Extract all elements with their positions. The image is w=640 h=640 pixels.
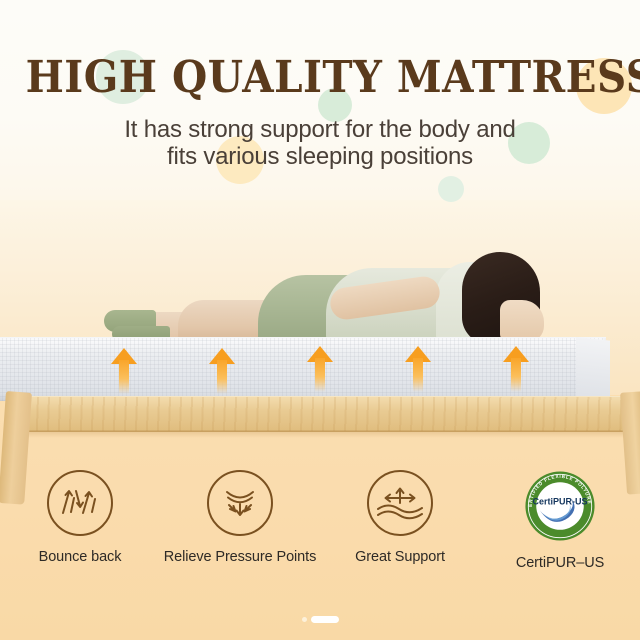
bounce-back-icon	[47, 470, 113, 536]
bed-frame-shadow	[26, 430, 640, 438]
product-marketing-image: HIGH QUALITY MATTRESS It has strong supp…	[0, 0, 640, 640]
feature-label: Bounce back	[39, 549, 122, 566]
face	[500, 300, 544, 342]
pagination-dot[interactable]	[302, 617, 307, 622]
feature-label: Relieve Pressure Points	[164, 549, 316, 566]
feature-certipur-us[interactable]: CONTAINS CERTIFIED FLEXIBLE POLYURETHANE…	[480, 470, 640, 572]
background-top	[0, 0, 640, 215]
support-arrow-icon	[405, 346, 431, 392]
page-title: HIGH QUALITY MATTRESS	[26, 52, 615, 103]
great-support-icon	[367, 470, 433, 536]
support-arrow-icon	[111, 348, 137, 394]
subtitle-line-2: fits various sleeping positions	[0, 143, 640, 171]
feature-bounce-back[interactable]: Bounce back	[0, 470, 160, 572]
support-arrow-icon	[307, 346, 333, 392]
mattress-right-edge	[576, 337, 610, 401]
svg-text:CertiPUR-US: CertiPUR-US	[532, 497, 587, 507]
support-arrow-icon	[503, 346, 529, 392]
relieve-pressure-icon	[207, 470, 273, 536]
bed-frame-rail	[26, 396, 640, 432]
support-arrow-icon	[209, 348, 235, 394]
subtitle-line-1: It has strong support for the body and	[0, 116, 640, 144]
feature-label: Great Support	[355, 549, 445, 566]
pagination-active[interactable]	[311, 616, 339, 623]
feature-relieve-pressure[interactable]: Relieve Pressure Points	[160, 470, 320, 572]
feature-label: CertiPUR–US	[516, 555, 604, 572]
feature-list: Bounce back Relieve Pressure Points	[0, 470, 640, 572]
certipur-us-badge-icon: CONTAINS CERTIFIED FLEXIBLE POLYURETHANE…	[524, 470, 596, 542]
carousel-pagination[interactable]	[0, 616, 640, 623]
feature-great-support[interactable]: Great Support	[320, 470, 480, 572]
